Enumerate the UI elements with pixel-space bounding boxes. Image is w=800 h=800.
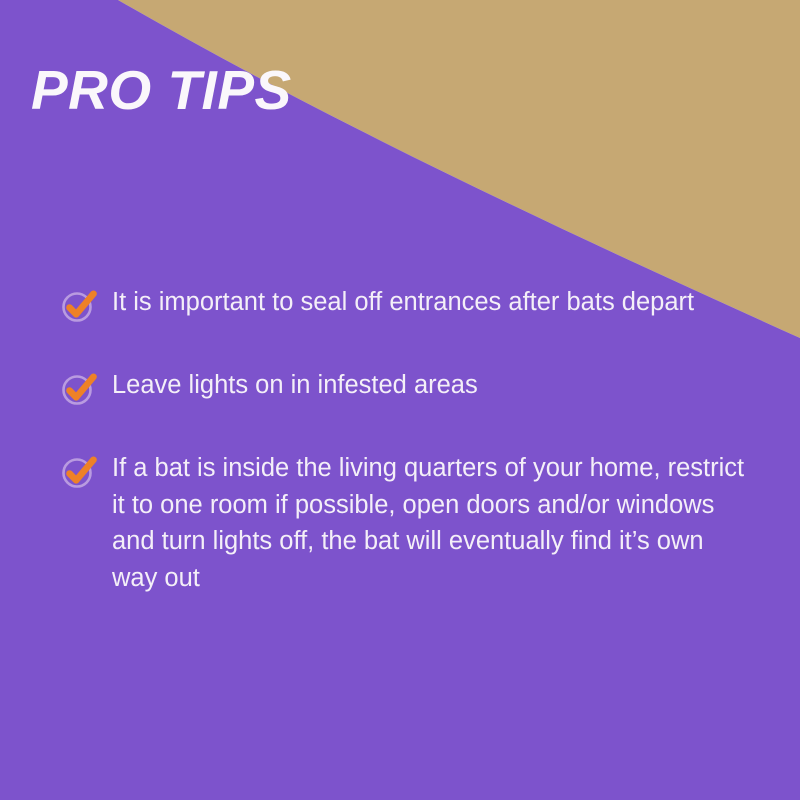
page-title: PRO TIPS xyxy=(31,62,292,120)
list-item: Leave lights on in infested areas xyxy=(60,367,750,408)
list-item: If a bat is inside the living quarters o… xyxy=(60,450,750,597)
card-content: PRO TIPS It is important to seal off ent… xyxy=(0,0,800,800)
check-circle-icon xyxy=(60,285,100,325)
check-circle-icon xyxy=(60,368,100,408)
tip-text: Leave lights on in infested areas xyxy=(112,367,750,404)
tip-text: It is important to seal off entrances af… xyxy=(112,284,750,321)
tips-list: It is important to seal off entrances af… xyxy=(60,284,750,597)
list-item: It is important to seal off entrances af… xyxy=(60,284,750,325)
tip-text: If a bat is inside the living quarters o… xyxy=(112,450,750,597)
check-circle-icon xyxy=(60,451,100,491)
pro-tips-card: PRO TIPS It is important to seal off ent… xyxy=(0,0,800,800)
